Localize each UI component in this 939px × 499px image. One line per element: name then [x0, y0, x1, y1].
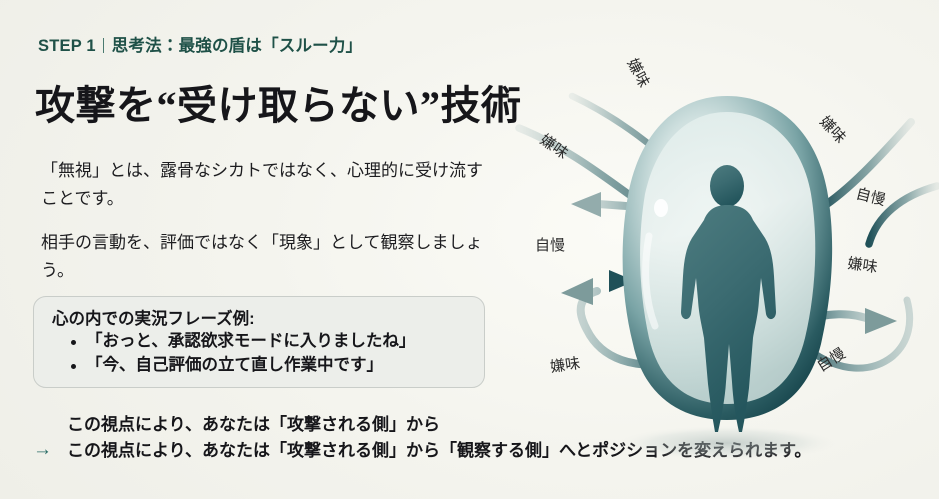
illustration: 嫌味 嫌味 自慢 嫌味 嫌味 自慢 嫌味 自慢	[509, 0, 939, 499]
label-boast-left: 自慢	[535, 237, 565, 254]
phrase-box-title: 心の内での実況フレーズ例:	[52, 305, 484, 329]
label-sarcasm-top-right: 嫌味	[816, 113, 849, 147]
phrase-example-box: 心の内での実況フレーズ例: 「おっと、承認欲求モードに入りましたね」 「今、自己…	[33, 296, 485, 388]
content-column: STEP 1 思考法：最強の盾は「スルー力」 攻撃を“受け取らない”技術 「無視…	[0, 0, 530, 499]
phrase-list: 「おっと、承認欲求モードに入りましたね」 「今、自己評価の立て直し作業中です」	[34, 330, 484, 378]
figure-shadow	[619, 426, 835, 460]
eyebrow: STEP 1 思考法：最強の盾は「スルー力」	[38, 32, 362, 56]
eyebrow-divider	[103, 38, 104, 53]
label-sarcasm-mid-right: 嫌味	[846, 255, 878, 276]
list-item: 「今、自己評価の立て直し作業中です」	[86, 354, 484, 378]
list-item: 「おっと、承認欲求モードに入りましたね」	[86, 330, 484, 354]
page-title: 攻撃を“受け取らない”技術	[35, 84, 522, 128]
slide-root: STEP 1 思考法：最強の盾は「スルー力」 攻撃を“受け取らない”技術 「無視…	[0, 0, 939, 499]
bubble-highlight-dot	[654, 199, 668, 217]
arrow-right-icon: →	[33, 440, 61, 460]
eyebrow-subtitle: 思考法：最強の盾は「スルー力」	[112, 32, 363, 56]
step-label: STEP 1	[38, 37, 96, 56]
label-sarcasm-lower-left: 嫌味	[549, 355, 581, 376]
body-paragraph-1: 「無視」とは、露骨なシカトではなく、心理的に受け流すことです。	[41, 157, 496, 212]
label-sarcasm-top: 嫌味	[623, 56, 652, 90]
label-boast-right: 自慢	[854, 185, 887, 209]
body-paragraph-2: 相手の言動を、評価ではなく「現象」として観察しましょう。	[41, 229, 496, 284]
